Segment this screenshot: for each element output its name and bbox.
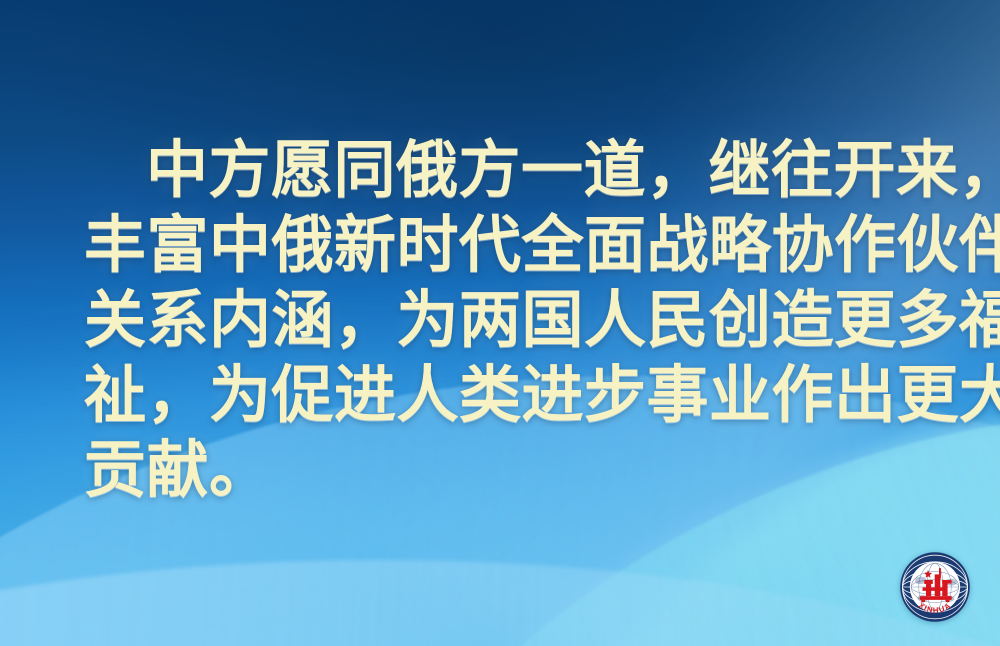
quote-card: 中方愿同俄方一道，继往开来， 丰富中俄新时代全面战略协作伙伴 关系内涵，为两国人… [0,0,1000,646]
quote-line-5: 贡献。 [84,434,916,509]
quote-block: 中方愿同俄方一道，继往开来， 丰富中俄新时代全面战略协作伙伴 关系内涵，为两国人… [0,134,1000,509]
xinhua-logo: XINHUA [898,550,972,624]
quote-line-3: 关系内涵，为两国人民创造更多福 [84,284,916,359]
quote-line-2: 丰富中俄新时代全面战略协作伙伴 [84,209,916,284]
quote-line-1: 中方愿同俄方一道，继往开来， [84,134,916,209]
quote-line-4: 祉，为促进人类进步事业作出更大 [84,359,916,434]
